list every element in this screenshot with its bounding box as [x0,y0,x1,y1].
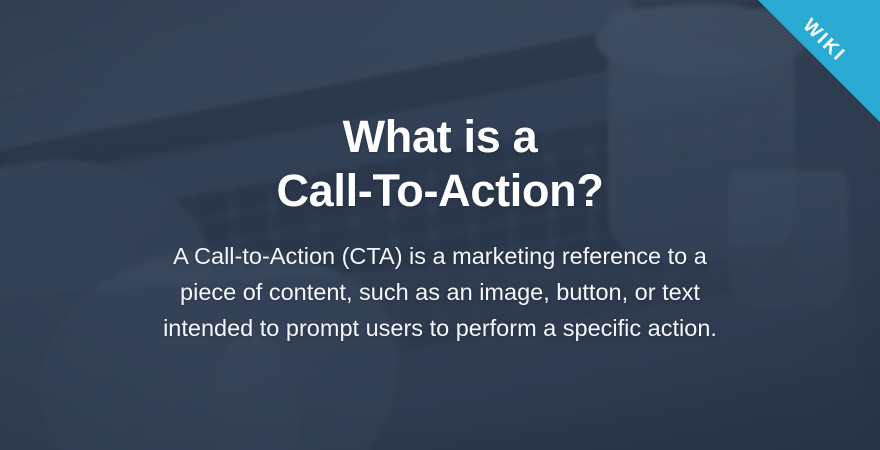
definition-line-3: intended to prompt users to perform a sp… [163,311,717,347]
wiki-definition-banner: WIKI What is a Call-To-Action? A Call-to… [0,0,880,450]
page-title: What is a Call-To-Action? [276,110,603,220]
definition-line-1: A Call-to-Action (CTA) is a marketing re… [163,239,717,275]
definition-text: A Call-to-Action (CTA) is a marketing re… [163,239,717,346]
page-title-line-1: What is a [276,110,603,165]
banner-content: What is a Call-To-Action? A Call-to-Acti… [0,0,880,450]
definition-line-2: piece of content, such as an image, butt… [163,275,717,311]
page-title-line-2: Call-To-Action? [276,164,603,219]
